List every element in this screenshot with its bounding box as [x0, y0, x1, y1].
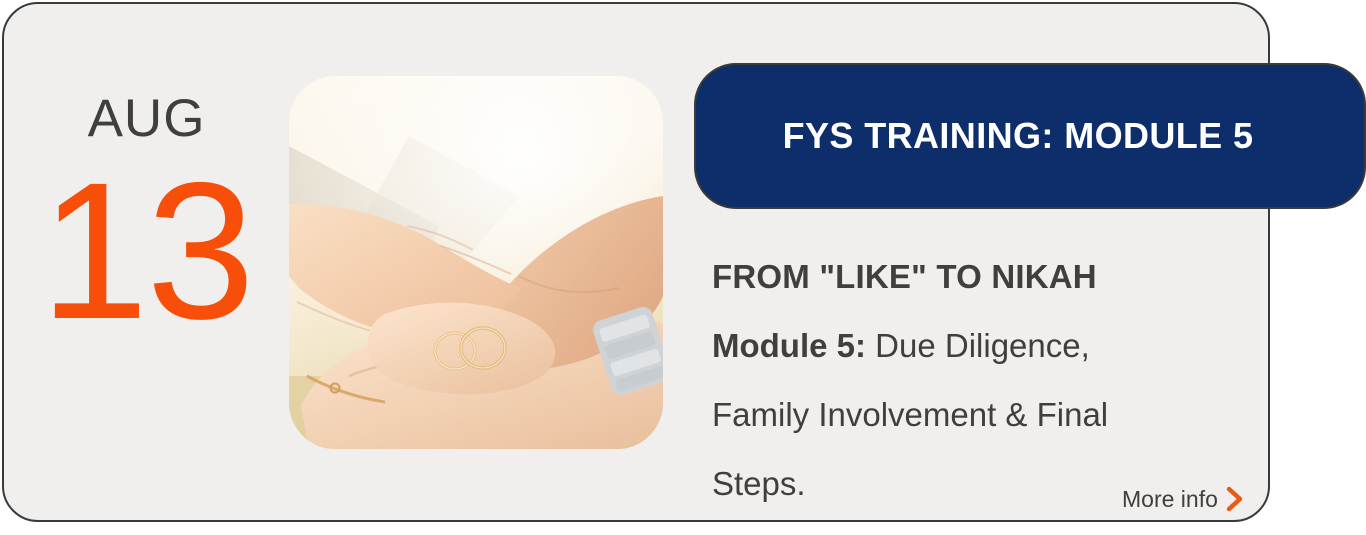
event-subtitle: FROM "LIKE" TO NIKAH — [712, 242, 1232, 311]
banner-title: FYS TRAINING: MODULE 5 — [757, 115, 1280, 157]
event-date: AUG 13 — [4, 92, 289, 354]
date-month: AUG — [4, 92, 289, 145]
module-topic: Due Diligence, — [866, 327, 1090, 364]
date-day: 13 — [4, 149, 289, 354]
hands-holding-rings-image — [289, 76, 663, 449]
more-info-link[interactable]: More info — [1122, 485, 1245, 513]
training-banner[interactable]: FYS TRAINING: MODULE 5 — [694, 63, 1366, 209]
event-detail-line-2: Family Involvement & Final — [712, 380, 1232, 449]
more-info-label: More info — [1122, 486, 1218, 513]
event-description: FROM "LIKE" TO NIKAH Module 5: Due Dilig… — [712, 242, 1232, 518]
event-module-line: Module 5: Due Diligence, — [712, 311, 1232, 380]
chevron-right-icon — [1225, 485, 1245, 513]
event-thumbnail[interactable] — [289, 76, 663, 449]
module-label: Module 5: — [712, 327, 866, 364]
